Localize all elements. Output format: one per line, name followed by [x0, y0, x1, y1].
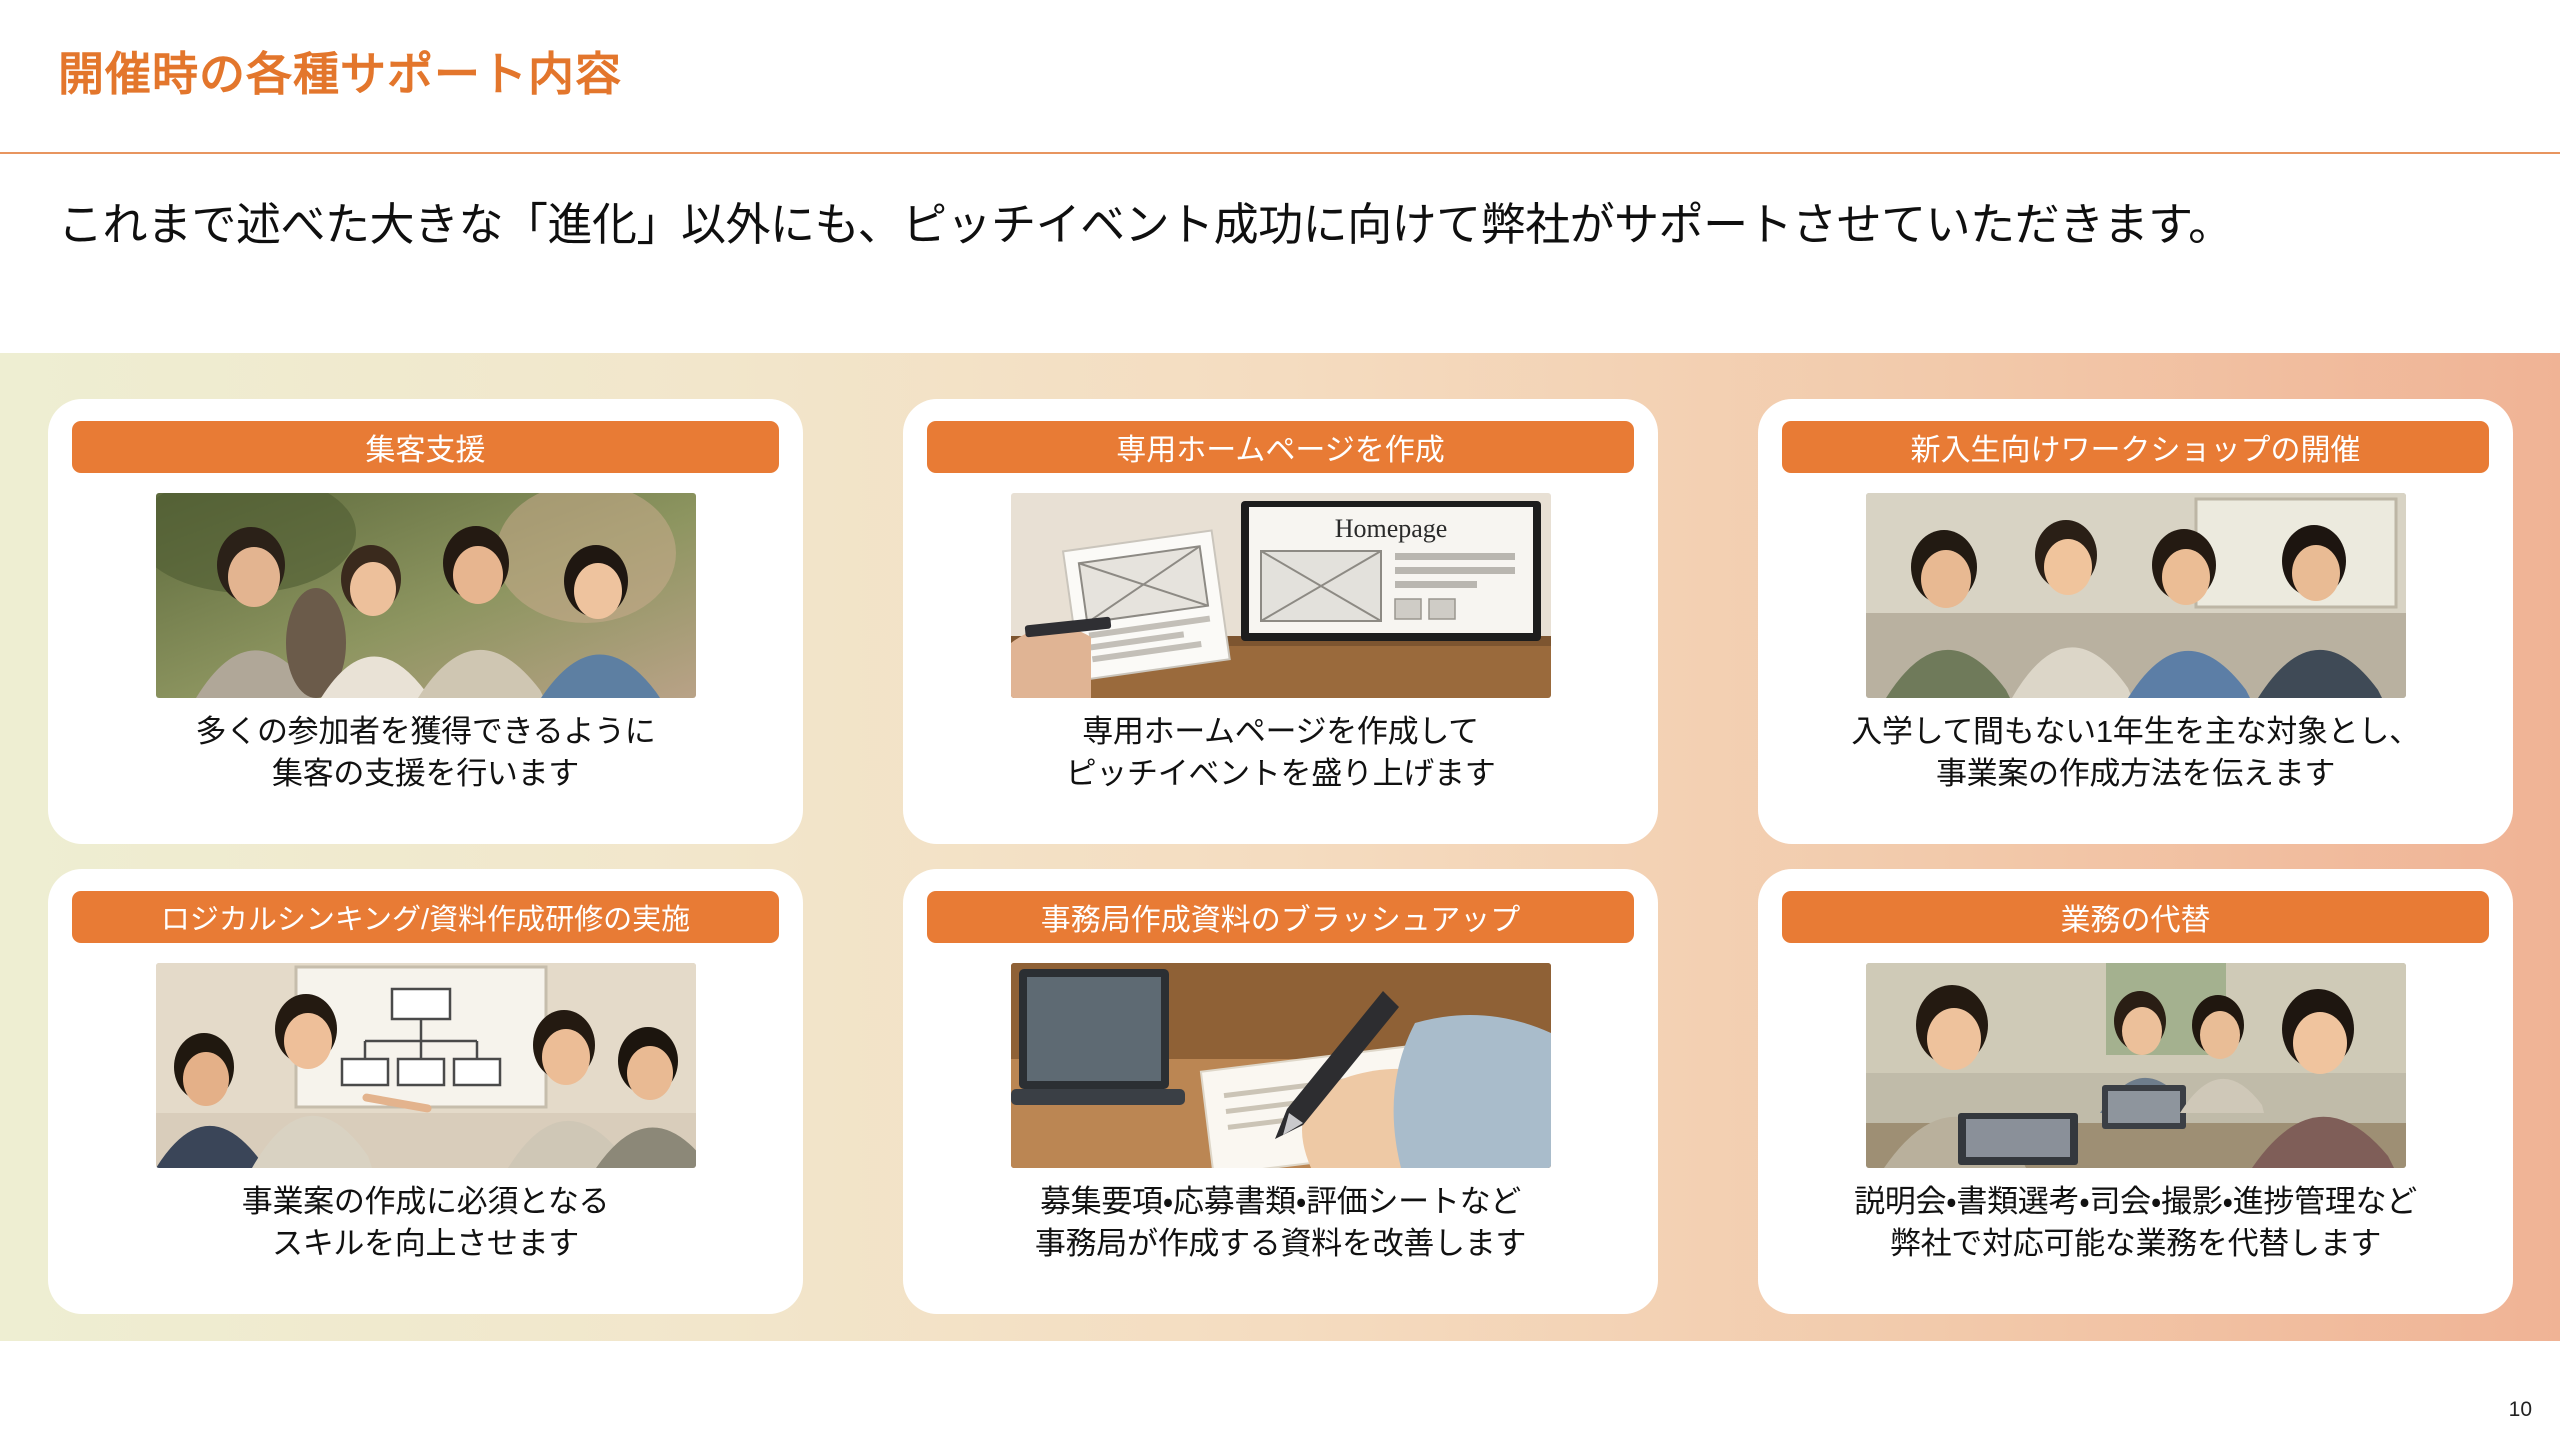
- caption-line-1: 募集要項・応募書類・評価シートなど: [915, 1181, 1646, 1223]
- support-card[interactable]: 専用ホームページを作成 Homepage: [903, 399, 1658, 844]
- caption-line-2: 集客の支援を行います: [60, 753, 791, 795]
- card-caption: 事業案の作成に必須となる スキルを向上させます: [60, 1181, 791, 1265]
- support-card[interactable]: 事務局作成資料のブラッシュアップ: [903, 869, 1658, 1314]
- card-caption: 多くの参加者を獲得できるように 集客の支援を行います: [60, 711, 791, 795]
- hand-writing-document-desk-photo: [1011, 963, 1551, 1168]
- card-caption: 専用ホームページを作成して ピッチイベントを盛り上げます: [915, 711, 1646, 795]
- support-card[interactable]: 集客支援: [48, 399, 803, 844]
- card-header-chip: 集客支援: [72, 421, 779, 473]
- students-talking-outdoors-photo: [156, 493, 696, 698]
- caption-line-2: 事務局が作成する資料を改善します: [915, 1223, 1646, 1265]
- caption-line-1: 入学して間もない1年生を主な対象とし、: [1770, 711, 2501, 753]
- card-caption: 募集要項・応募書類・評価シートなど 事務局が作成する資料を改善します: [915, 1181, 1646, 1265]
- card-caption: 入学して間もない1年生を主な対象とし、 事業案の作成方法を伝えます: [1770, 711, 2501, 795]
- homepage-wireframe-monitor-photo: Homepage: [1011, 493, 1551, 698]
- card-caption: 説明会・書類選考・司会・撮影・進捗管理など 弊社で対応可能な業務を代替します: [1770, 1181, 2501, 1265]
- whiteboard-training-session-photo: [156, 963, 696, 1168]
- caption-line-1: 多くの参加者を獲得できるように: [60, 711, 791, 753]
- card-header-chip: 事務局作成資料のブラッシュアップ: [927, 891, 1634, 943]
- caption-line-2: 弊社で対応可能な業務を代替します: [1770, 1223, 2501, 1265]
- students-workshop-classroom-photo: [1866, 493, 2406, 698]
- page-number: 10: [2509, 1398, 2532, 1422]
- title-divider: [0, 152, 2560, 154]
- caption-line-1: 説明会・書類選考・司会・撮影・進捗管理など: [1770, 1181, 2501, 1223]
- card-header-chip: ロジカルシンキング/資料作成研修の実施: [72, 891, 779, 943]
- card-header-chip: 新入生向けワークショップの開催: [1782, 421, 2489, 473]
- card-header-chip: 業務の代替: [1782, 891, 2489, 943]
- caption-line-1: 事業案の作成に必須となる: [60, 1181, 791, 1223]
- caption-line-2: スキルを向上させます: [60, 1223, 791, 1265]
- caption-line-2: ピッチイベントを盛り上げます: [915, 753, 1646, 795]
- page-title: 開催時の各種サポート内容: [58, 38, 622, 104]
- team-meeting-laptops-photo: [1866, 963, 2406, 1168]
- support-card[interactable]: 業務の代替: [1758, 869, 2513, 1314]
- support-card[interactable]: 新入生向けワークショップの開催: [1758, 399, 2513, 844]
- caption-line-2: 事業案の作成方法を伝えます: [1770, 753, 2501, 795]
- caption-line-1: 専用ホームページを作成して: [915, 711, 1646, 753]
- lead-sentence: これまで述べた大きな「進化」以外にも、ピッチイベント成功に向けて弊社がサポートさ…: [58, 188, 2518, 253]
- support-card[interactable]: ロジカルシンキング/資料作成研修の実施: [48, 869, 803, 1314]
- support-card-grid: 集客支援: [0, 353, 2560, 1341]
- svg-text:Homepage: Homepage: [1334, 514, 1447, 543]
- card-header-chip: 専用ホームページを作成: [927, 421, 1634, 473]
